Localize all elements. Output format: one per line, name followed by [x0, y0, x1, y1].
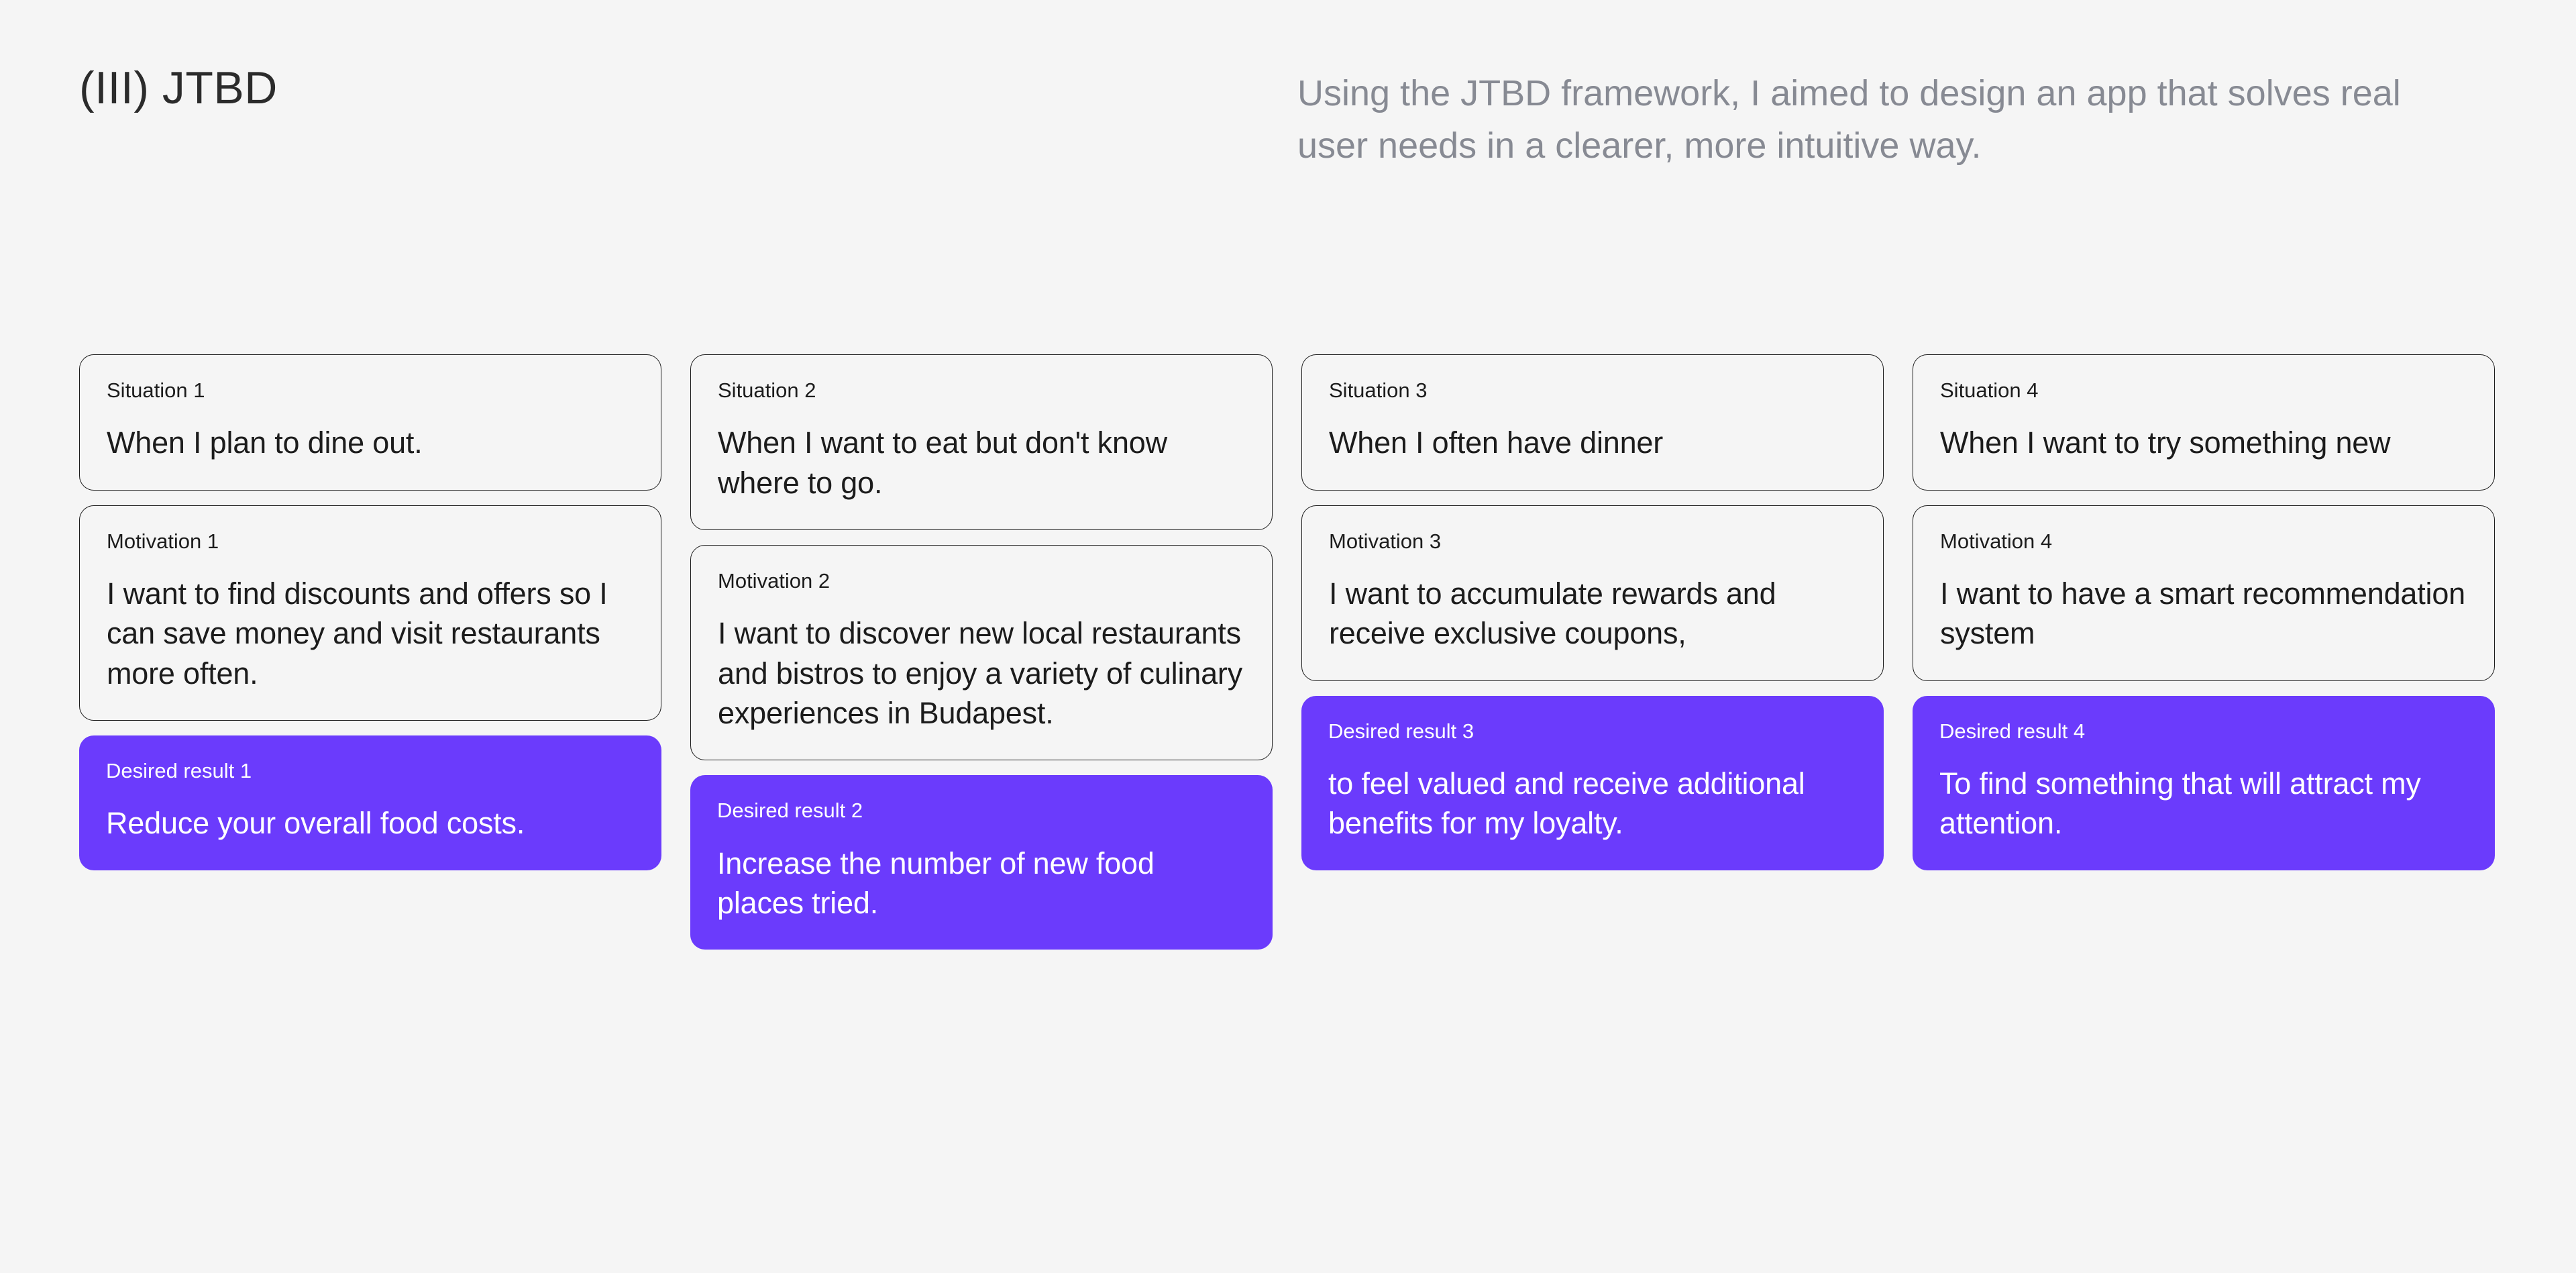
jtbd-column-3: Situation 3 When I often have dinner Mot… — [1301, 354, 1884, 870]
jtbd-columns: Situation 1 When I plan to dine out. Mot… — [79, 354, 2497, 950]
motivation-body-3: I want to accumulate rewards and receive… — [1329, 574, 1856, 654]
desired-result-body-2: Increase the number of new food places t… — [717, 844, 1246, 923]
situation-card-3[interactable]: Situation 3 When I often have dinner — [1301, 354, 1884, 491]
motivation-label-4: Motivation 4 — [1940, 529, 2467, 554]
motivation-card-2[interactable]: Motivation 2 I want to discover new loca… — [690, 545, 1273, 760]
jtbd-column-2: Situation 2 When I want to eat but don't… — [690, 354, 1273, 950]
motivation-card-1[interactable]: Motivation 1 I want to find discounts an… — [79, 505, 661, 721]
situation-label-2: Situation 2 — [718, 378, 1245, 403]
situation-card-2[interactable]: Situation 2 When I want to eat but don't… — [690, 354, 1273, 530]
situation-body-3: When I often have dinner — [1329, 423, 1856, 462]
motivation-body-2: I want to discover new local restaurants… — [718, 613, 1245, 733]
motivation-card-4[interactable]: Motivation 4 I want to have a smart reco… — [1913, 505, 2495, 681]
desired-result-label-4: Desired result 4 — [1939, 719, 2468, 744]
desired-result-card-2[interactable]: Desired result 2 Increase the number of … — [690, 775, 1273, 950]
motivation-body-1: I want to find discounts and offers so I… — [107, 574, 634, 693]
page-title: (III) JTBD — [79, 64, 1297, 112]
desired-result-label-2: Desired result 2 — [717, 798, 1246, 823]
situation-label-1: Situation 1 — [107, 378, 634, 403]
situation-card-4[interactable]: Situation 4 When I want to try something… — [1913, 354, 2495, 491]
motivation-card-3[interactable]: Motivation 3 I want to accumulate reward… — [1301, 505, 1884, 681]
situation-body-1: When I plan to dine out. — [107, 423, 634, 462]
jtbd-column-1: Situation 1 When I plan to dine out. Mot… — [79, 354, 661, 870]
situation-body-4: When I want to try something new — [1940, 423, 2467, 462]
desired-result-body-1: Reduce your overall food costs. — [106, 803, 635, 843]
desired-result-card-4[interactable]: Desired result 4 To find something that … — [1913, 696, 2495, 870]
situation-body-2: When I want to eat but don't know where … — [718, 423, 1245, 503]
desired-result-label-1: Desired result 1 — [106, 758, 635, 783]
motivation-label-1: Motivation 1 — [107, 529, 634, 554]
motivation-label-3: Motivation 3 — [1329, 529, 1856, 554]
desired-result-card-3[interactable]: Desired result 3 to feel valued and rece… — [1301, 696, 1884, 870]
desired-result-body-3: to feel valued and receive additional be… — [1328, 764, 1857, 844]
jtbd-column-4: Situation 4 When I want to try something… — [1913, 354, 2495, 870]
situation-label-3: Situation 3 — [1329, 378, 1856, 403]
desired-result-card-1[interactable]: Desired result 1 Reduce your overall foo… — [79, 735, 661, 870]
desired-result-body-4: To find something that will attract my a… — [1939, 764, 2468, 844]
situation-card-1[interactable]: Situation 1 When I plan to dine out. — [79, 354, 661, 491]
header-description: Using the JTBD framework, I aimed to des… — [1297, 67, 2438, 172]
jtbd-slide: (III) JTBD Using the JTBD framework, I a… — [0, 0, 2576, 1273]
motivation-body-4: I want to have a smart recommendation sy… — [1940, 574, 2467, 654]
desired-result-label-3: Desired result 3 — [1328, 719, 1857, 744]
situation-label-4: Situation 4 — [1940, 378, 2467, 403]
motivation-label-2: Motivation 2 — [718, 568, 1245, 593]
slide-header: (III) JTBD Using the JTBD framework, I a… — [79, 64, 2497, 172]
